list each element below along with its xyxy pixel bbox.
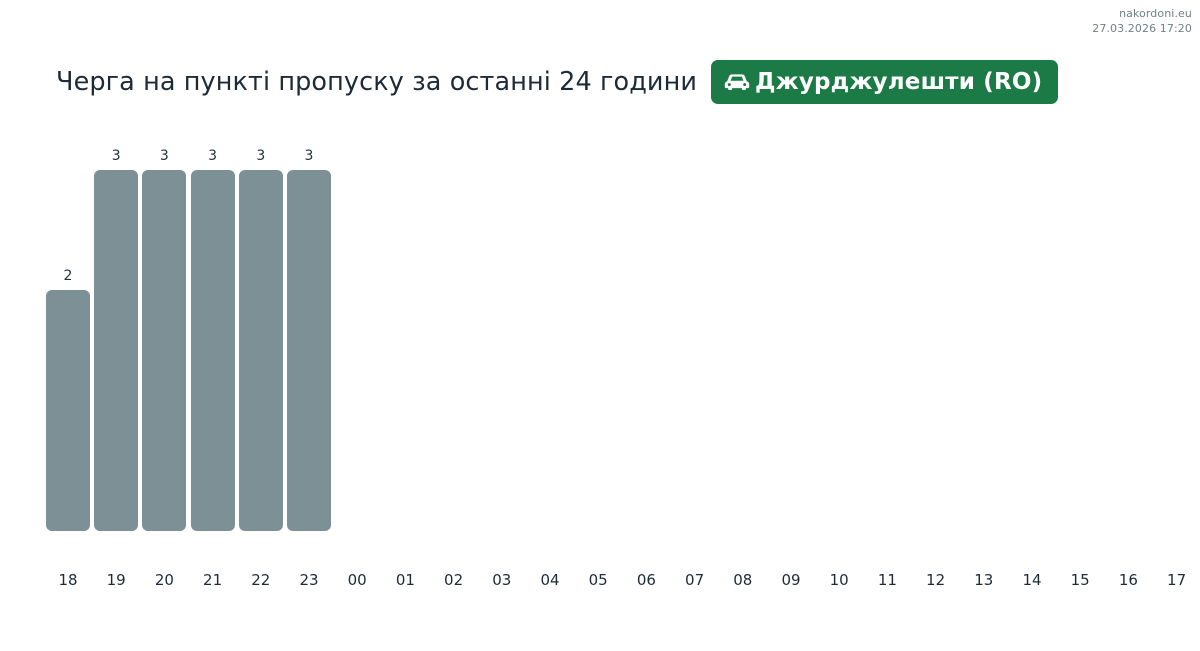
bar-column[interactable]	[239, 170, 283, 531]
x-axis-tick: 02	[432, 571, 476, 589]
bar-value-label: 3	[142, 148, 186, 164]
bar[interactable]	[142, 170, 186, 531]
bar[interactable]	[287, 170, 331, 531]
bar-value-label: 3	[191, 148, 235, 164]
bar[interactable]	[191, 170, 235, 531]
x-axis-tick: 09	[769, 571, 813, 589]
bar-column[interactable]	[94, 170, 138, 531]
x-axis-tick: 03	[480, 571, 524, 589]
x-axis-tick: 14	[1010, 571, 1054, 589]
bar-value-label: 3	[239, 148, 283, 164]
bar-column[interactable]	[142, 170, 186, 531]
x-axis-tick: 17	[1155, 571, 1199, 589]
x-axis-tick: 11	[865, 571, 909, 589]
x-axis-tick: 21	[191, 571, 235, 589]
bar-column[interactable]	[46, 290, 90, 531]
x-axis-tick: 01	[383, 571, 427, 589]
x-axis-tick: 13	[962, 571, 1006, 589]
x-axis-tick: 15	[1058, 571, 1102, 589]
queue-bar-chart: 2183193203213223230001020304050607080910…	[0, 0, 1200, 651]
x-axis-tick: 10	[817, 571, 861, 589]
x-axis-tick: 06	[624, 571, 668, 589]
x-axis-tick: 08	[721, 571, 765, 589]
bar-column[interactable]	[287, 170, 331, 531]
bar-value-label: 3	[94, 148, 138, 164]
bar-value-label: 3	[287, 148, 331, 164]
x-axis-tick: 12	[914, 571, 958, 589]
x-axis-tick: 00	[335, 571, 379, 589]
bar[interactable]	[46, 290, 90, 531]
x-axis-tick: 23	[287, 571, 331, 589]
x-axis-tick: 19	[94, 571, 138, 589]
bar-value-label: 2	[46, 268, 90, 284]
bar[interactable]	[239, 170, 283, 531]
bar[interactable]	[94, 170, 138, 531]
x-axis-tick: 16	[1106, 571, 1150, 589]
x-axis-tick: 04	[528, 571, 572, 589]
x-axis-tick: 07	[673, 571, 717, 589]
x-axis-tick: 05	[576, 571, 620, 589]
x-axis-tick: 22	[239, 571, 283, 589]
x-axis-tick: 20	[142, 571, 186, 589]
x-axis-tick: 18	[46, 571, 90, 589]
bar-column[interactable]	[191, 170, 235, 531]
